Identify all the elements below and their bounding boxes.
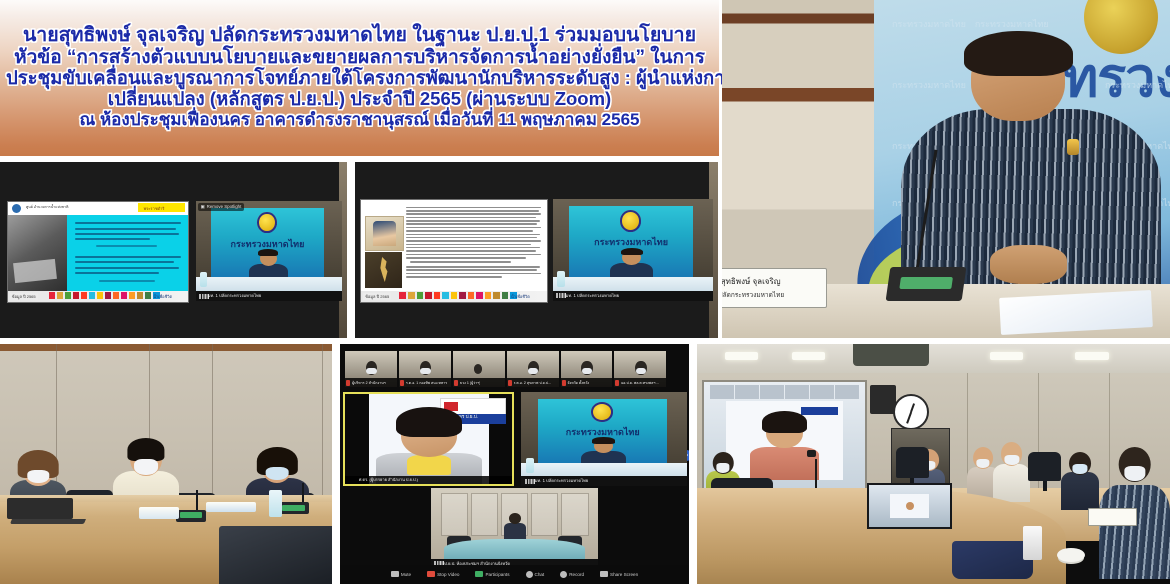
video-person-hair [621, 248, 643, 255]
toolbar-chat-label: Chat [535, 572, 545, 577]
document-map-image [365, 252, 402, 288]
headline-line-1: นายสุทธิพงษ์ จุลเจริญ ปลัดกระทรวงมหาดไทย… [6, 25, 713, 47]
face-mask [366, 368, 376, 374]
projector [853, 344, 929, 366]
participant-tile-secondary[interactable]: กระทรวงมหาดไทย มท. 1 ปลัดกระทรวงมหาดไทย [521, 392, 687, 486]
photo-zoom-screenshare-slide: ศูนย์ อำนวยการน้ำแห่งชาติ พระราชดำริ ข้ [0, 162, 347, 338]
participants-icon [475, 571, 483, 577]
video-person-hair [592, 437, 614, 444]
toolbar-video-button[interactable]: Stop Video [427, 571, 459, 577]
sdg-icon-row [398, 292, 516, 301]
thumbnail-name: ร.ต.อ. 1 กองทัพ สนง.ทหาร [406, 380, 447, 386]
slide-footer-left: ข้อมูล ปี 2565 [10, 293, 38, 300]
slide-title: ศูนย์ อำนวยการน้ำแห่งชาติ [26, 204, 68, 210]
participant-torso [1061, 472, 1099, 509]
participant-tile-tertiary[interactable]: ป.ย.ป. ห้องประชุมฯ สำนักงานจังหวัด [431, 488, 599, 567]
wall-speaker [870, 385, 896, 414]
speaker-hair [762, 411, 806, 433]
record-icon [560, 571, 567, 578]
slide-header: ศูนย์ อำนวยการน้ำแห่งชาติ พระราชดำริ [8, 202, 188, 216]
video-name-bar: มท. 1 ปลัดกระทรวงมหาดไทย [521, 476, 687, 485]
face-mask [1004, 455, 1019, 465]
water-tumbler [1023, 526, 1042, 560]
thailand-map-icon [376, 257, 391, 282]
slide-tab-label: พระราชดำริ [144, 205, 165, 212]
thumbnail-participant[interactable]: ร.ต.อ. 1 กองทัพ สนง.ทหาร [399, 351, 451, 387]
face-mask [582, 368, 592, 374]
mic-muted-icon [508, 380, 512, 386]
coffee-cup [1057, 548, 1085, 562]
thumbnail-name: จังหวัด ตั้งหวัง [567, 380, 589, 386]
ministry-emblem-icon [620, 210, 641, 231]
sanitizer-bottle [526, 458, 534, 472]
video-name-bar: มท. 1 ปลัดกระทรวงมหาดไทย [196, 291, 342, 301]
bag [952, 541, 1032, 579]
slide-footer: ข้อมูล ปี 2565 น้ำเพื่อชีวิต [8, 291, 188, 302]
document-footer: ข้อมูล ปี 2565 น้ำเพื่อชีวิต [361, 291, 546, 302]
signal-icon [525, 479, 535, 484]
headline-banner: นายสุทธิพงษ์ จุลเจริญ ปลัดกระทรวงมหาดไทย… [0, 0, 719, 156]
remove-spotlight-label: Remove Spotlight [207, 204, 242, 209]
monitor-rear [219, 526, 332, 584]
chat-icon [526, 571, 533, 578]
thumbnail-participant[interactable]: ร.ต.อ. 2 สุขภาพ ป.ย.ป... [507, 351, 559, 387]
pin-icon: ▣ [201, 204, 205, 209]
participant [993, 440, 1031, 502]
agency-logo-icon [12, 204, 21, 213]
headline-line-4: เปลี่ยนแปลง (หลักสูตร ป.ย.ป.) ประจำปี 25… [6, 89, 713, 110]
thumbnail-name: ผู้บริหาร 2 สำนักงานฯ [352, 380, 386, 386]
monitor-screen-content [890, 494, 929, 517]
slide-photo [8, 215, 68, 291]
person-hair [964, 31, 1073, 76]
face-mask [420, 368, 430, 374]
slide-photo-subject [13, 258, 57, 282]
thumbnail-participant[interactable]: ผอ.ป.ย. พล.ต.ทรงพลฯ ... [614, 351, 666, 387]
thumbnail-name: ร.ต.อ. 2 สุขภาพ ป.ย.ป... [514, 380, 551, 386]
face-mask [1124, 466, 1145, 481]
document-figure [373, 221, 397, 246]
document-portrait-image [365, 216, 404, 251]
document-footer-left: ข้อมูล ปี 2565 [363, 293, 391, 300]
mic-muted-icon [454, 380, 458, 386]
microphone-console [279, 502, 309, 514]
microphone-console [176, 510, 206, 522]
slide-tab: พระราชดำริ [138, 203, 185, 212]
backdrop-watermark: กระทรวงมหาดไทย [892, 17, 966, 31]
thumbnail-name: ขวง 1 (ผู้ว่าฯ) [460, 380, 481, 386]
toolbar-record-button[interactable]: Record [560, 571, 584, 578]
sdg-icon-row [48, 292, 160, 301]
chair [1028, 452, 1061, 481]
video-icon [427, 571, 435, 577]
headline-line-2: หัวข้อ “การสร้างตัวแบบนโยบายและขยายผลการ… [6, 47, 713, 68]
thumbnail-participant[interactable]: จังหวัด ตั้งหวัง [561, 351, 613, 387]
nameplate [1088, 508, 1137, 527]
share-icon [600, 571, 608, 577]
nameplate-title: ปลัดกระทรวงมหาดไทย [722, 290, 784, 300]
video-desk [553, 277, 713, 291]
face-mask [528, 368, 538, 374]
document-stack [206, 502, 256, 512]
thumbnail-name: ผอ.ป.ย. พล.ต.ทรงพลฯ ... [621, 380, 659, 386]
participant-torso [1099, 485, 1170, 579]
toolbar-chat-button[interactable]: Chat [526, 571, 545, 578]
face-mask [1073, 464, 1088, 474]
signal-icon [556, 293, 566, 298]
toolbar-participants-label: Participants [485, 572, 509, 577]
nameplate: สุทธิพงษ์ จุลเจริญ ปลัดกระทรวงมหาดไทย [722, 268, 827, 307]
video-desk [196, 277, 342, 291]
face-mask [266, 467, 289, 480]
slide-quote-panel [67, 215, 188, 291]
headline-line-3: ประชุมขับเคลื่อนและบูรณาการโจทย์ภายใต้โค… [6, 68, 713, 89]
screen-thumbnail-strip [710, 385, 859, 399]
mic-icon [391, 571, 399, 577]
headline-line-5: ณ ห้องประชุมเฟื่องนคร อาคารดำรงราชานุสรณ… [6, 110, 713, 129]
zoom-toolbar[interactable]: Mute Stop Video Participants Chat Record… [340, 565, 689, 584]
shared-document: ข้อมูล ปี 2565 น้ำเพื่อชีวิต [360, 199, 547, 303]
video-desk [521, 463, 687, 476]
document-footer-right: น้ำเพื่อชีวิต [511, 293, 530, 300]
photo-meeting-room-wide [697, 344, 1170, 584]
console-display [282, 505, 305, 510]
video-participant-name: มท. 1 ปลัดกระทรวงมหาดไทย [208, 292, 262, 299]
ceiling [697, 344, 1170, 375]
photo-meeting-room-participants [0, 344, 332, 584]
mic-muted-icon [346, 380, 350, 386]
video-person [504, 513, 526, 542]
console-display [899, 277, 952, 289]
shared-slide: ศูนย์ อำนวยการน้ำแห่งชาติ พระราชดำริ ข้ [7, 201, 189, 303]
toolbar-participants-button[interactable]: Participants [475, 571, 509, 577]
document-stack [139, 507, 179, 519]
mic-muted-icon [562, 380, 566, 386]
lapel-pin-icon [1067, 139, 1079, 155]
microphone-stem [302, 483, 304, 502]
console-display [180, 512, 203, 517]
active-speaker-name-bar: ศ.ดร. (ผู้บรรยาย สำนักงาน ป.ย.ป.) [345, 476, 512, 484]
remove-spotlight-button[interactable]: ▣Remove Spotlight [198, 203, 245, 211]
thumbnail-participant[interactable]: ผู้บริหาร 2 สำนักงานฯ [345, 351, 397, 387]
mic-muted-icon [400, 380, 404, 386]
thumbnail-participant[interactable]: ขวง 1 (ผู้ว่าฯ) [453, 351, 505, 387]
toolbar-share-button[interactable]: Share Screen [600, 571, 638, 577]
face-mask [27, 470, 48, 483]
camera-icon [807, 450, 816, 457]
participant-torso [993, 464, 1031, 503]
zoom-video-feed: กระทรวงมหาดไทย ▣Remove Spotlight มท. 1 ป… [196, 201, 342, 301]
microphone-stem [196, 490, 198, 509]
laptop [7, 498, 73, 520]
ministry-emblem-icon [257, 212, 276, 233]
person-hands [990, 245, 1068, 284]
photo-portrait-permanent-secretary: กระทรวง กระทรวงมหาดไทย กระทรวงมหาดไทย กร… [722, 0, 1170, 338]
thumbnail-head [474, 364, 482, 373]
document-body-text [406, 205, 543, 289]
face-mask [636, 368, 646, 374]
nameplate-name: สุทธิพงษ์ จุลเจริญ [722, 275, 781, 288]
photo-zoom-gallery-view: ผู้บริหาร 2 สำนักงานฯ ร.ต.อ. 1 กองทัพ สน… [340, 344, 689, 584]
toolbar-mute-button[interactable]: Mute [391, 571, 411, 577]
chair [896, 447, 929, 478]
ministry-emblem-icon [591, 402, 613, 422]
face-mask [134, 459, 158, 475]
speaker-scarf [407, 455, 450, 475]
screen-active-speaker [726, 401, 842, 480]
zoom-video-feed: กระทรวงมหาดไทย มท. 1 ปลัดกระทรวงมหาดไทย [553, 199, 713, 301]
participant-thumbnail-strip[interactable]: ผู้บริหาร 2 สำนักงานฯ ร.ต.อ. 1 กองทัพ สน… [345, 351, 666, 387]
desk-monitor [867, 483, 952, 529]
slide-footer-right: น้ำเพื่อชีวิต [153, 293, 172, 300]
speaker-hair [396, 407, 463, 437]
backdrop-watermark: กระทรวงมหาดไทย [975, 17, 1049, 31]
participant [1061, 450, 1099, 510]
microphone-console [885, 267, 966, 301]
toolbar-mute-label: Mute [401, 572, 411, 577]
news-photo-collage: นายสุทธิพงษ์ จุลเจริญ ปลัดกระทรวงมหาดไทย… [0, 0, 1170, 584]
sanitizer-bottle [557, 271, 565, 286]
video-participant-name: มท. 1 ปลัดกระทรวงมหาดไทย [566, 292, 620, 299]
toolbar-share-label: Share Screen [610, 572, 638, 577]
sanitizer-bottle [200, 272, 207, 287]
monitor-speaker-face [906, 502, 914, 510]
sanitizer-bottle [269, 490, 282, 516]
course-badge [801, 407, 838, 416]
active-speaker-name: ศ.ดร. (ผู้บรรยาย สำนักงาน ป.ย.ป.) [359, 476, 418, 483]
video-name-bar: มท. 1 ปลัดกระทรวงมหาดไทย [553, 291, 713, 301]
mic-muted-icon [615, 380, 619, 386]
active-speaker-tile[interactable]: หลักสูตร ป.ย.ป. ศ.ดร. (ผู้บรรยาย สำนักงา… [343, 392, 514, 486]
participant-hair [127, 438, 164, 462]
video-participant-name: มท. 1 ปลัดกระทรวงมหาดไทย [535, 477, 589, 484]
toolbar-video-label: Stop Video [437, 572, 459, 577]
photo-zoom-screenshare-document: ข้อมูล ปี 2565 น้ำเพื่อชีวิต กระทรวงมหาด… [355, 162, 718, 338]
toolbar-record-label: Record [569, 572, 584, 577]
video-person-hair [258, 249, 278, 256]
